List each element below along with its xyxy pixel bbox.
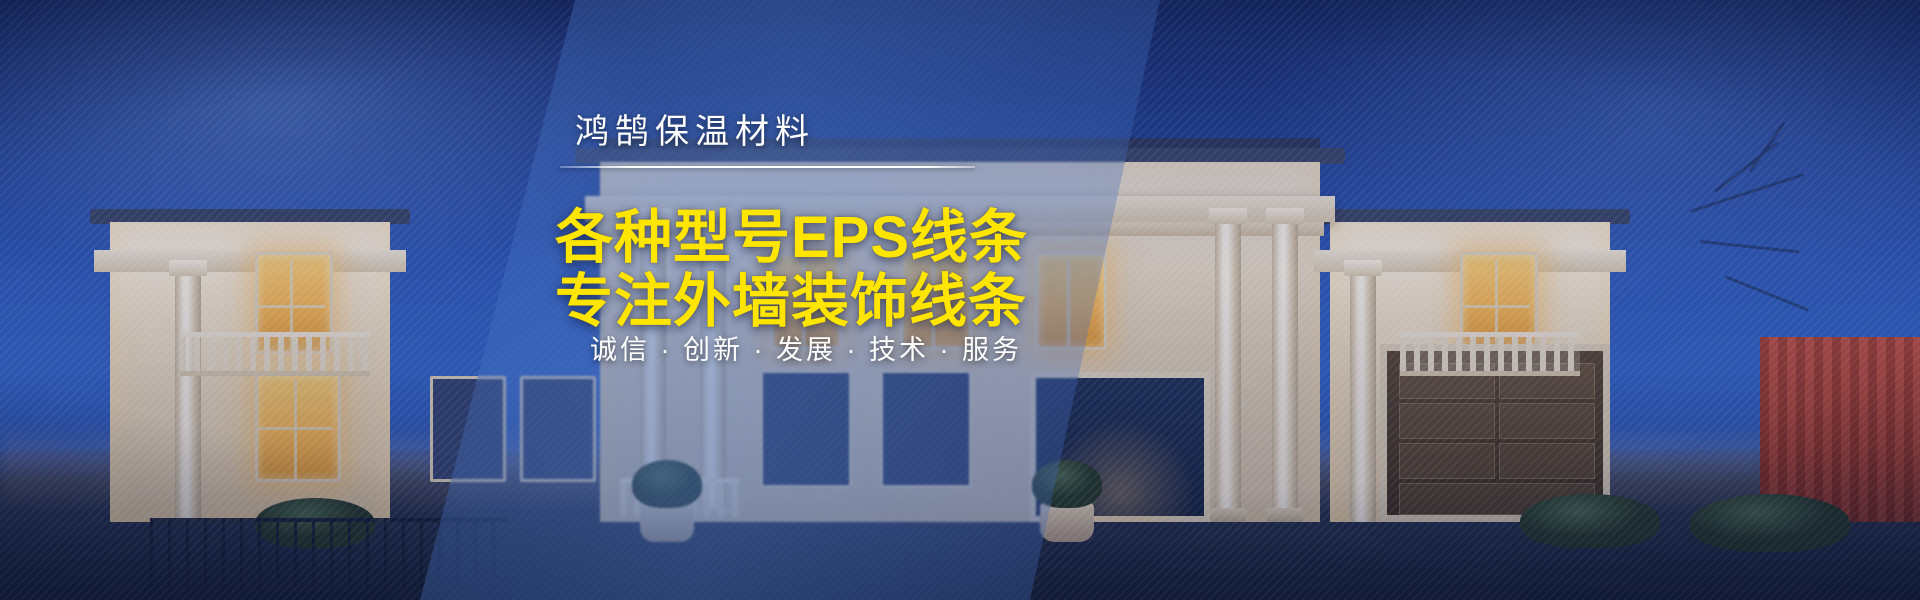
hero-banner: 鸿鹄保温材料 各种型号EPS线条 专注外墙装饰线条 诚信 · 创新 · 发展 ·…	[0, 0, 1920, 600]
divider-rule	[560, 166, 975, 168]
headline-line-2: 专注外墙装饰线条	[555, 254, 1027, 338]
company-name: 鸿鹄保温材料	[575, 104, 815, 153]
banner-copy: 鸿鹄保温材料 各种型号EPS线条 专注外墙装饰线条 诚信 · 创新 · 发展 ·…	[555, 0, 1075, 600]
tagline: 诚信 · 创新 · 发展 · 技术 · 服务	[590, 328, 1022, 367]
